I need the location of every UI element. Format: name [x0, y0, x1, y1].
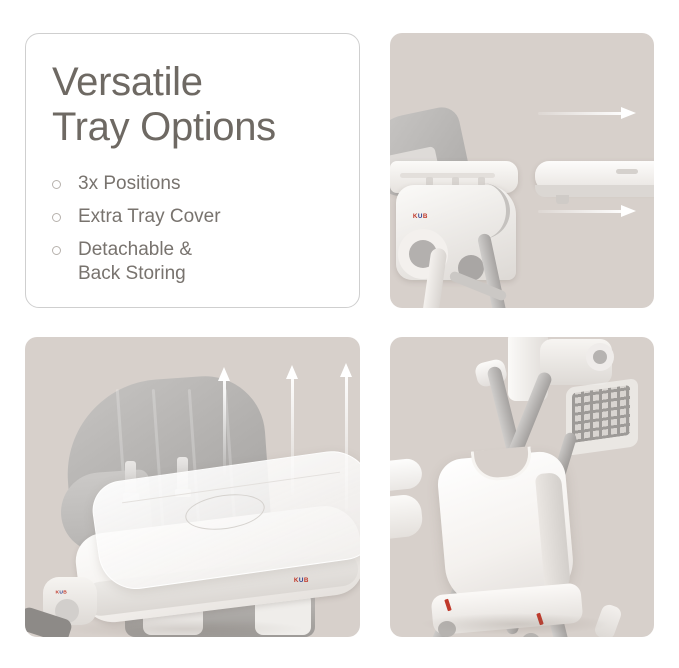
slide-arrow-top-icon	[538, 110, 636, 117]
lift-arrow-2-icon	[289, 365, 296, 495]
spare-tray-peek-bottom	[390, 493, 424, 543]
tray-cover-photo-panel: KUB KUB	[25, 337, 360, 637]
feature-label: 3x Positions	[78, 172, 180, 196]
brand-logo: KUB	[294, 577, 309, 583]
brand-letter-b: B	[63, 590, 67, 595]
arrow-shaft	[538, 210, 622, 213]
detachable-tray-photo-panel: KUB	[390, 33, 654, 308]
back-storing-photo-panel	[390, 337, 654, 637]
floor-shadow	[65, 619, 305, 637]
brand-logo-small: KUB	[56, 590, 68, 595]
storage-basket-mesh	[572, 385, 630, 443]
brand-logo: KUB	[413, 213, 428, 219]
brand-letter-b: B	[304, 577, 309, 583]
list-item: 3x Positions	[52, 172, 359, 196]
high-chair-seat-and-tray-view: KUB KUB	[25, 337, 360, 637]
arrow-shaft	[291, 378, 294, 495]
knob-center	[593, 350, 607, 364]
feature-list: 3x Positions Extra Tray Cover Detachable…	[26, 172, 359, 286]
detached-tray-lip	[535, 185, 654, 197]
infographic-board: Versatile Tray Options 3x Positions Extr…	[0, 0, 679, 668]
arrow-shaft	[538, 112, 622, 115]
floor-shadow	[420, 613, 610, 635]
bullet-circle-icon	[52, 213, 61, 222]
arrow-head	[340, 363, 352, 377]
lift-arrow-1-icon	[221, 367, 228, 475]
bullet-circle-icon	[52, 180, 61, 189]
list-item: Detachable & Back Storing	[52, 238, 359, 286]
folded-chair-rear-view	[390, 337, 654, 637]
arrow-shaft	[223, 380, 226, 475]
feature-label: Extra Tray Cover	[78, 205, 221, 229]
tray-handle-slot	[616, 169, 638, 174]
arrow-head	[621, 107, 636, 119]
arrow-shaft	[345, 376, 348, 511]
feature-label: Detachable & Back Storing	[78, 238, 192, 286]
brand-letter-b: B	[423, 213, 428, 219]
spare-tray-peek-top	[390, 457, 423, 494]
list-item: Extra Tray Cover	[52, 205, 359, 229]
arrow-head	[621, 205, 636, 217]
arrow-head	[286, 365, 298, 379]
tray-release-tab	[556, 195, 569, 204]
high-chair-side-view: KUB	[390, 33, 654, 308]
page-title: Versatile Tray Options	[52, 60, 359, 150]
bullet-circle-icon	[52, 246, 61, 255]
lift-arrow-3-icon	[343, 363, 350, 511]
feature-text-panel: Versatile Tray Options 3x Positions Extr…	[25, 33, 360, 308]
arrow-head	[218, 367, 230, 381]
slide-arrow-bottom-icon	[538, 208, 636, 215]
